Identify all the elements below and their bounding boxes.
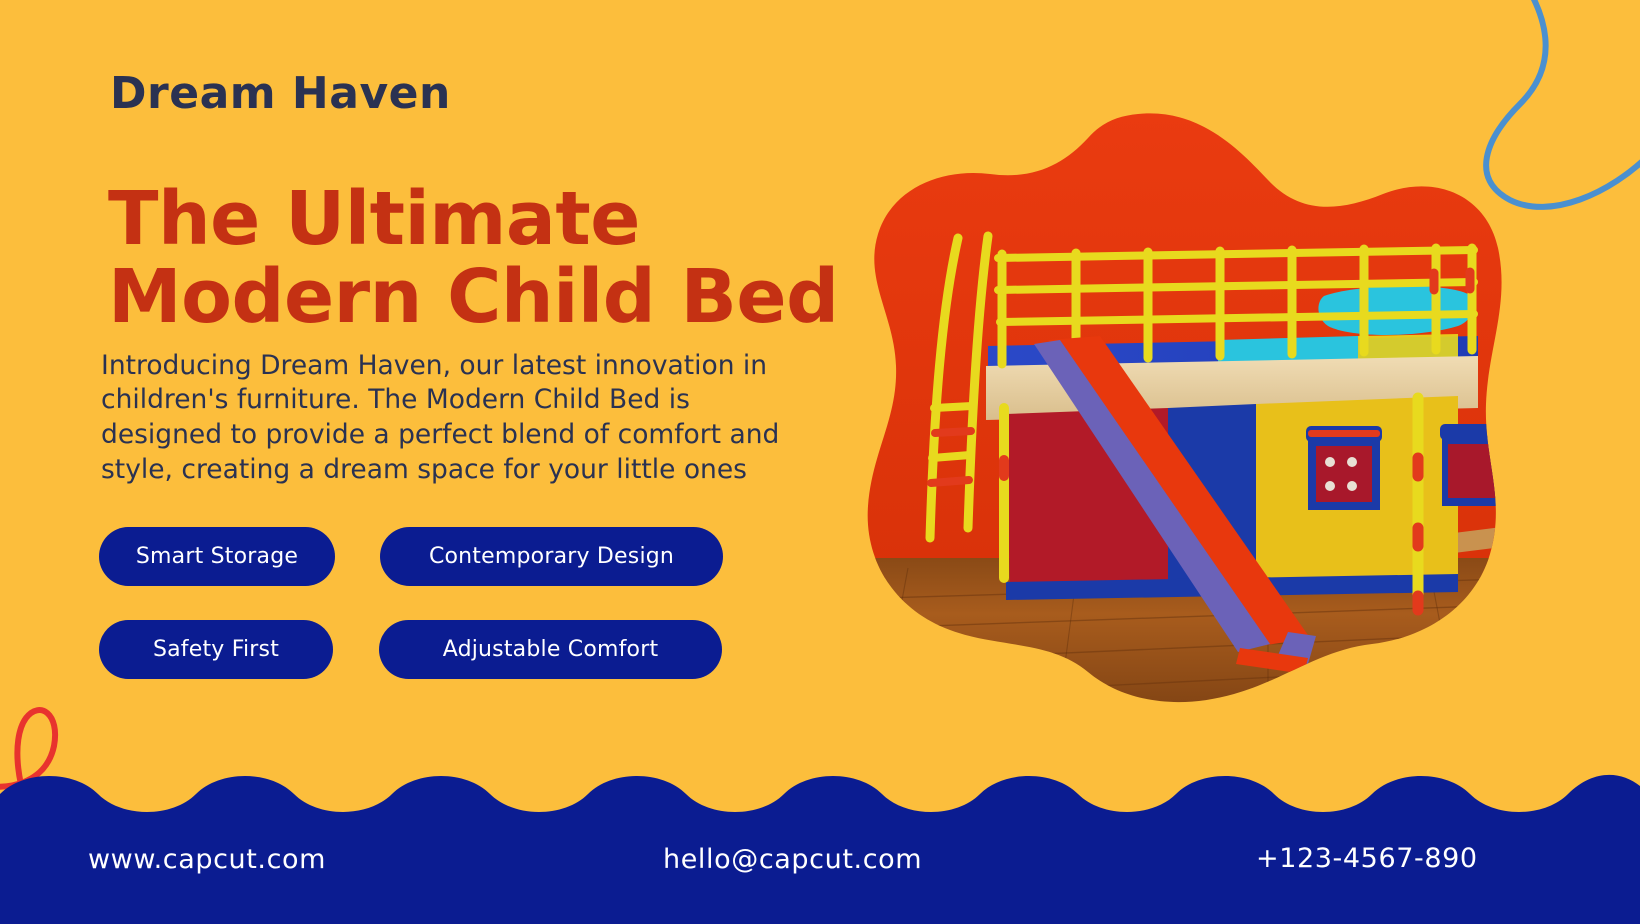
footer-email[interactable]: hello@capcut.com: [663, 844, 922, 875]
headline-line-2: Modern Child Bed: [108, 262, 868, 332]
poster-canvas: Dream Haven The Ultimate Modern Child Be…: [0, 0, 1640, 924]
headline-line-1: The Ultimate: [108, 184, 868, 254]
footer: www.capcut.com hello@capcut.com +123-456…: [0, 724, 1640, 924]
feature-pill-row: Smart Storage Contemporary Design: [99, 527, 759, 586]
page-title: The Ultimate Modern Child Bed: [108, 184, 868, 333]
feature-pill-row: Safety First Adjustable Comfort: [99, 620, 759, 679]
feature-pill-group: Smart Storage Contemporary Design Safety…: [99, 527, 759, 679]
wave-divider: [0, 724, 1640, 924]
footer-website[interactable]: www.capcut.com: [88, 844, 326, 875]
feature-pill-safety-first[interactable]: Safety First: [99, 620, 333, 679]
product-image: [838, 108, 1510, 708]
feature-pill-adjustable-comfort[interactable]: Adjustable Comfort: [379, 620, 722, 679]
feature-pill-smart-storage[interactable]: Smart Storage: [99, 527, 335, 586]
feature-pill-contemporary-design[interactable]: Contemporary Design: [380, 527, 723, 586]
brand-name: Dream Haven: [110, 72, 451, 116]
footer-phone[interactable]: +123-4567-890: [1256, 843, 1478, 874]
body-paragraph: Introducing Dream Haven, our latest inno…: [101, 349, 801, 488]
